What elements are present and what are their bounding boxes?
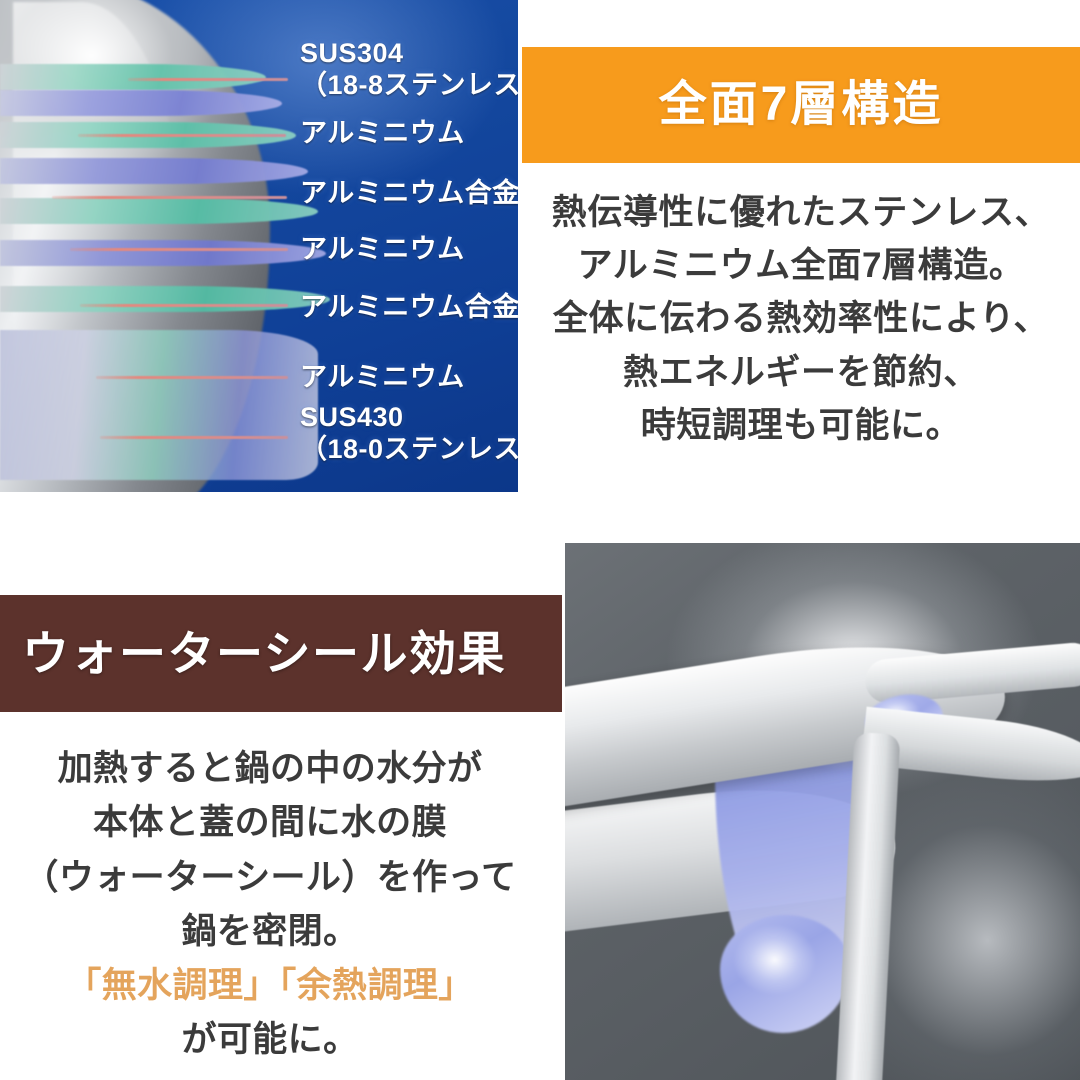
leader-line-7 bbox=[100, 436, 288, 439]
leader-line-2 bbox=[78, 134, 286, 137]
layer-label-5-name: アルミニウム合金 bbox=[300, 292, 518, 322]
layer-label-4-name: アルミニウム bbox=[300, 234, 465, 264]
product-infographic: SUS304 （18-8ステンレス） アルミニウム アルミニウム合金 アルミニウ… bbox=[0, 0, 1080, 1080]
metal-layer-7 bbox=[0, 286, 330, 312]
layer-label-6-name: アルミニウム bbox=[300, 362, 465, 392]
seven-layer-body-line-3: 全体に伝わる熱効率性により、 bbox=[522, 292, 1080, 345]
layer-label-1-name: SUS304 bbox=[300, 38, 404, 68]
water-seal-body-line-2: 本体と蓋の間に水の膜 bbox=[0, 796, 540, 850]
seven-layer-description: 熱伝導性に優れたステンレス、 アルミニウム全面7層構造。 全体に伝わる熱効率性に… bbox=[522, 186, 1080, 452]
leader-line-6 bbox=[96, 376, 288, 379]
water-seal-closing-line: が可能に。 bbox=[0, 1013, 540, 1067]
layer-label-3-name: アルミニウム合金 bbox=[300, 178, 518, 208]
seven-layer-cross-section-image: SUS304 （18-8ステンレス） アルミニウム アルミニウム合金 アルミニウ… bbox=[0, 0, 518, 492]
leader-line-3 bbox=[52, 196, 287, 199]
seven-layer-body-line-4: 熱エネルギーを節約、 bbox=[522, 346, 1080, 399]
metal-layer-6 bbox=[0, 240, 326, 266]
layer-label-4: アルミニウム bbox=[300, 234, 465, 266]
water-seal-cross-section-image bbox=[565, 543, 1080, 1080]
water-seal-droplet-shape bbox=[720, 915, 850, 1033]
leader-line-1 bbox=[128, 78, 288, 81]
water-seal-heading-banner: ウォーターシール効果 bbox=[0, 595, 562, 712]
seven-layer-body-line-5: 時短調理も可能に。 bbox=[522, 399, 1080, 452]
layer-label-7-name: SUS430 bbox=[300, 402, 404, 432]
layer-label-1-sub: （18-8ステンレス） bbox=[300, 70, 518, 102]
water-seal-heading-text: ウォーターシール効果 bbox=[0, 595, 562, 712]
water-seal-body-line-1: 加熱すると鍋の中の水分が bbox=[0, 742, 540, 796]
metal-layer-1 bbox=[0, 64, 266, 90]
layer-label-5: アルミニウム合金 bbox=[300, 292, 518, 324]
leader-line-4 bbox=[70, 248, 288, 251]
seven-layer-heading-text: 全面7層構造 bbox=[522, 47, 1080, 163]
layer-label-6: アルミニウム bbox=[300, 362, 465, 394]
leader-line-5 bbox=[80, 304, 288, 307]
seven-layer-heading-banner: 全面7層構造 bbox=[522, 47, 1080, 163]
layer-label-7: SUS430 （18-0ステンレス） bbox=[300, 402, 518, 466]
metal-layer-5 bbox=[0, 198, 318, 224]
layer-label-7-sub: （18-0ステンレス） bbox=[300, 434, 518, 466]
water-seal-description: 加熱すると鍋の中の水分が 本体と蓋の間に水の膜 （ウォーターシール）を作って 鍋… bbox=[0, 742, 540, 1068]
layer-label-3: アルミニウム合金 bbox=[300, 178, 518, 210]
layer-label-2-name: アルミニウム bbox=[300, 118, 465, 148]
metal-layer-4 bbox=[0, 158, 308, 184]
seven-layer-body-line-1: 熱伝導性に優れたステンレス、 bbox=[522, 186, 1080, 239]
layer-label-2: アルミニウム bbox=[300, 118, 465, 150]
water-seal-body-line-4: 鍋を密閉。 bbox=[0, 905, 540, 959]
metal-layer-edge-highlight bbox=[0, 330, 318, 480]
metal-layer-2 bbox=[0, 90, 282, 116]
water-seal-body-line-3: （ウォーターシール）を作って bbox=[0, 851, 540, 905]
layer-label-1: SUS304 （18-8ステンレス） bbox=[300, 38, 518, 102]
seven-layer-body-line-2: アルミニウム全面7層構造。 bbox=[522, 239, 1080, 292]
water-seal-highlight-line: 「無水調理」「余熱調理」 bbox=[0, 959, 540, 1013]
